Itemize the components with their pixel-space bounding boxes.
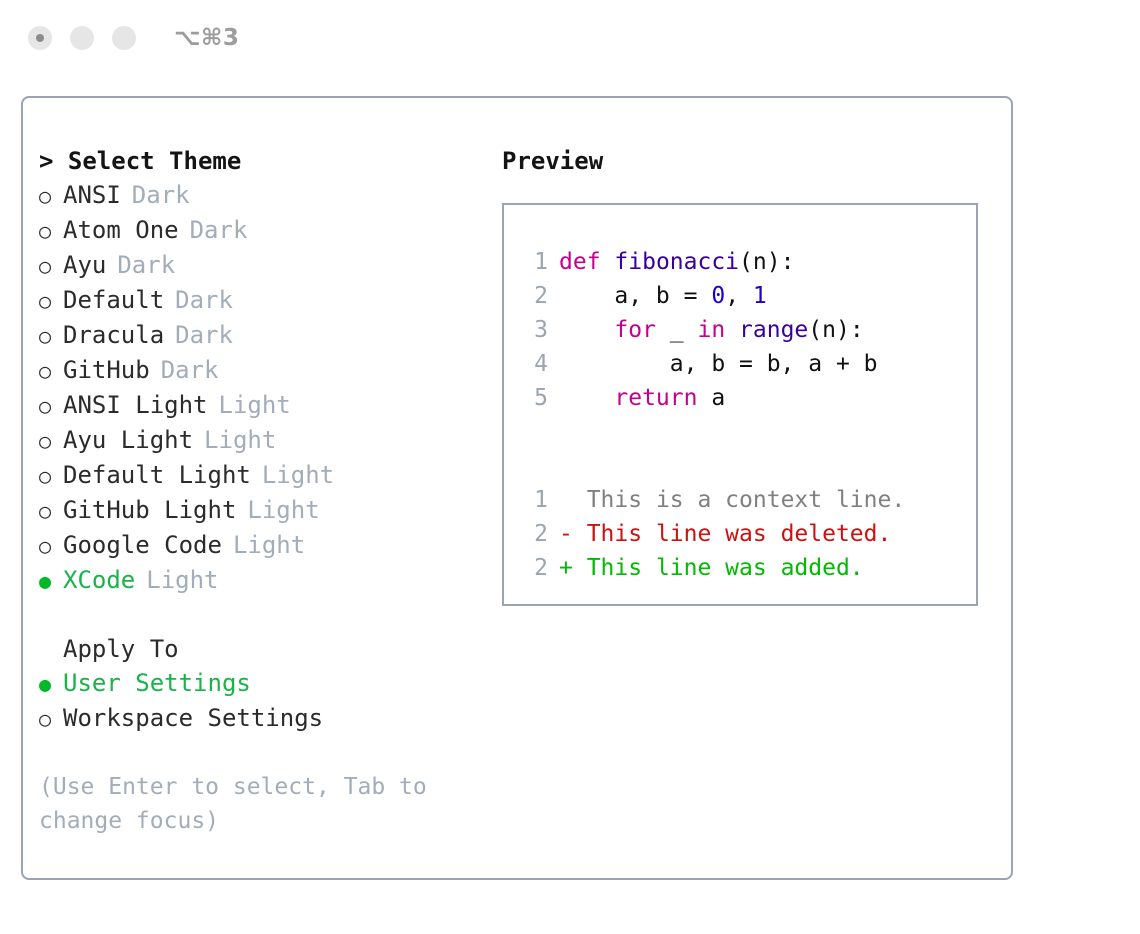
token-plain: a, b = b, a + b (559, 351, 878, 377)
theme-list-item-xcode[interactable]: ● XCode Light (39, 563, 479, 598)
apply-to-label: Workspace Settings (63, 701, 323, 735)
theme-name: Dracula (63, 318, 164, 352)
theme-name: Default Light (63, 458, 251, 492)
token-number: 1 (753, 283, 767, 309)
theme-name: Atom One (63, 213, 179, 247)
token-plain: , (725, 283, 753, 309)
title-bar: ⌥⌘3 (0, 0, 1140, 76)
diff-text: This line was deleted. (587, 517, 892, 551)
theme-list-item-github[interactable]: ○ GitHub Dark (39, 353, 479, 388)
code-sample: 1 def fibonacci(n): 2 a, b = 0, 1 3 for … (504, 245, 976, 415)
theme-variant: Light (262, 458, 334, 492)
diff-line-deleted: 2 - This line was deleted. (504, 517, 976, 551)
theme-variant: Light (233, 528, 305, 562)
theme-list-item-ayu[interactable]: ○ Ayu Dark (39, 248, 479, 283)
theme-name: ANSI Light (63, 388, 208, 422)
token-keyword: for (614, 317, 656, 343)
theme-name: Ayu (63, 248, 106, 282)
theme-list-item-default-light[interactable]: ○ Default Light Light (39, 458, 479, 493)
theme-variant: Light (204, 423, 276, 457)
token-keyword: in (697, 317, 725, 343)
diff-sample: 1 This is a context line. 2 - This line … (504, 483, 976, 585)
code-line: 2 a, b = 0, 1 (504, 279, 976, 313)
window-dot-active-icon[interactable] (28, 26, 52, 50)
radio-unselected-icon: ○ (39, 529, 63, 563)
window-dot-3-icon[interactable] (112, 26, 136, 50)
theme-list-item-default[interactable]: ○ Default Dark (39, 283, 479, 318)
window-controls (28, 26, 136, 50)
theme-variant: Dark (175, 283, 233, 317)
keyboard-shortcut-label: ⌥⌘3 (174, 25, 239, 51)
diff-prefix: + (559, 551, 587, 585)
apply-to-item-user-settings[interactable]: ● User Settings (39, 666, 479, 701)
radio-unselected-icon: ○ (39, 214, 63, 248)
keyboard-hint-text: (Use Enter to select, Tab to change focu… (39, 770, 451, 838)
theme-name: Default (63, 283, 164, 317)
token-plain: (n): (808, 317, 863, 343)
radio-unselected-icon: ○ (39, 319, 63, 353)
code-spacer (504, 449, 976, 483)
apply-to-section: Apply To ● User Settings ○ Workspace Set… (39, 632, 479, 736)
app-window: ⌥⌘3 > Select Theme ○ ANSI Dark ○ Atom On… (0, 0, 1140, 934)
preview-box: 1 def fibonacci(n): 2 a, b = 0, 1 3 for … (502, 203, 978, 606)
code-content: def fibonacci(n): (559, 245, 794, 279)
token-plain (725, 317, 739, 343)
diff-text: This line was added. (587, 551, 864, 585)
theme-name: Ayu Light (63, 423, 193, 457)
line-number: 5 (522, 381, 548, 415)
diff-line-added: 2 + This line was added. (504, 551, 976, 585)
code-spacer (504, 415, 976, 449)
theme-name: XCode (63, 563, 135, 597)
radio-unselected-icon: ○ (39, 354, 63, 388)
theme-variant: Dark (117, 248, 175, 282)
theme-variant: Dark (132, 178, 190, 212)
code-content: a, b = b, a + b (559, 347, 878, 381)
token-plain (559, 317, 614, 343)
token-plain (559, 385, 614, 411)
apply-to-label: User Settings (63, 666, 251, 700)
radio-unselected-icon: ○ (39, 389, 63, 423)
radio-unselected-icon: ○ (39, 249, 63, 283)
preview-column: Preview 1 def fibonacci(n): 2 a, b = 0, … (502, 144, 992, 606)
theme-name: ANSI (63, 178, 121, 212)
code-content: for _ in range(n): (559, 313, 864, 347)
radio-selected-icon: ● (39, 564, 63, 598)
line-number: 2 (522, 517, 548, 551)
diff-prefix: - (559, 517, 587, 551)
theme-name: GitHub Light (63, 493, 236, 527)
theme-list-item-ansi-light[interactable]: ○ ANSI Light Light (39, 388, 479, 423)
window-dot-2-icon[interactable] (70, 26, 94, 50)
token-function: fibonacci (614, 249, 739, 275)
code-line: 3 for _ in range(n): (504, 313, 976, 347)
theme-name: Google Code (63, 528, 222, 562)
main-panel: > Select Theme ○ ANSI Dark ○ Atom One Da… (21, 96, 1013, 880)
line-number: 1 (522, 483, 548, 517)
diff-line-context: 1 This is a context line. (504, 483, 976, 517)
theme-variant: Light (219, 388, 291, 422)
line-number: 2 (522, 551, 548, 585)
theme-variant: Dark (161, 353, 219, 387)
token-plain: (n): (739, 249, 794, 275)
theme-variant: Light (146, 563, 218, 597)
theme-name: GitHub (63, 353, 150, 387)
token-keyword: def (559, 249, 601, 275)
radio-unselected-icon: ○ (39, 284, 63, 318)
theme-variant: Dark (190, 213, 248, 247)
theme-variant: Light (247, 493, 319, 527)
token-number: 0 (711, 283, 725, 309)
token-plain: a (697, 385, 725, 411)
token-plain (601, 249, 615, 275)
theme-variant: Dark (175, 318, 233, 352)
select-theme-header: > Select Theme (39, 144, 479, 178)
line-number: 2 (522, 279, 548, 313)
token-function: range (739, 317, 808, 343)
apply-to-title: Apply To (39, 632, 479, 666)
theme-list-item-dracula[interactable]: ○ Dracula Dark (39, 318, 479, 353)
window-dot-active-inner-icon (36, 34, 44, 42)
radio-unselected-icon: ○ (39, 702, 63, 736)
code-content: a, b = 0, 1 (559, 279, 767, 313)
diff-text: This is a context line. (587, 483, 906, 517)
radio-unselected-icon: ○ (39, 424, 63, 458)
token-plain: _ (656, 317, 698, 343)
diff-prefix (559, 483, 587, 517)
line-number: 3 (522, 313, 548, 347)
theme-list-item-github-light[interactable]: ○ GitHub Light Light (39, 493, 479, 528)
theme-selector-column: > Select Theme ○ ANSI Dark ○ Atom One Da… (39, 144, 479, 838)
radio-selected-icon: ● (39, 667, 63, 701)
code-content: return a (559, 381, 725, 415)
line-number: 1 (522, 245, 548, 279)
theme-list-item-atom-one[interactable]: ○ Atom One Dark (39, 213, 479, 248)
token-keyword: return (614, 385, 697, 411)
theme-list: ○ ANSI Dark ○ Atom One Dark ○ Ayu Dark (39, 178, 479, 598)
code-line: 1 def fibonacci(n): (504, 245, 976, 279)
code-line: 4 a, b = b, a + b (504, 347, 976, 381)
theme-list-item-ansi[interactable]: ○ ANSI Dark (39, 178, 479, 213)
radio-unselected-icon: ○ (39, 494, 63, 528)
code-line: 5 return a (504, 381, 976, 415)
apply-to-item-workspace-settings[interactable]: ○ Workspace Settings (39, 701, 479, 736)
token-plain: a, b = (559, 283, 711, 309)
theme-list-item-google-code[interactable]: ○ Google Code Light (39, 528, 479, 563)
radio-unselected-icon: ○ (39, 179, 63, 213)
theme-list-item-ayu-light[interactable]: ○ Ayu Light Light (39, 423, 479, 458)
radio-unselected-icon: ○ (39, 459, 63, 493)
line-number: 4 (522, 347, 548, 381)
preview-header: Preview (502, 144, 992, 178)
